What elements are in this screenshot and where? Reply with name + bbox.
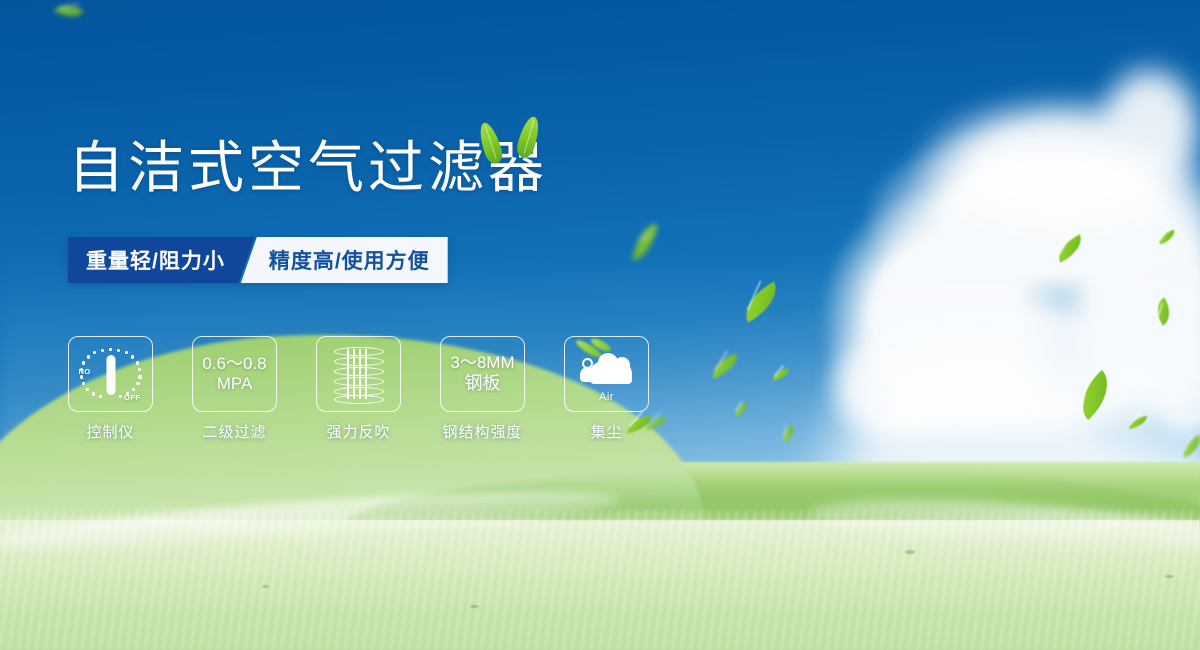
feature-icon-text-secondary: 钢板 [465,373,501,394]
feature-item-steel-strength[interactable]: 3～8MM 钢板 钢结构强度 [440,336,525,442]
product-banner: 自洁式空气过滤器 重量轻/阻力小 精度高/使用方便 [0,0,1200,650]
dust-ring [582,358,593,369]
grass-speck [1165,575,1174,578]
filter-stack-icon [331,345,387,403]
air-label: Air [576,391,638,403]
feature-icon-text-primary: 0.6～0.8 [202,354,266,374]
grass-speck [470,605,479,608]
cloud-small [580,367,596,382]
feature-icon-box: Air [564,336,649,412]
cloud-air-icon: Air [576,347,638,401]
feature-label: 集尘 [590,421,622,442]
subtitle-right-text: 精度高/使用方便 [241,237,448,283]
title-block: 自洁式空气过滤器 [68,140,548,196]
feature-icon-box: 0.6～0.8 MPA [192,336,277,412]
dial-no-label: NO [79,367,91,376]
feature-label: 二级过滤 [202,421,266,442]
feature-item-controller[interactable]: NO OFF 控制仪 [68,336,153,442]
subtitle-left-text: 重量轻/阻力小 [68,237,255,283]
feature-item-two-stage-filter[interactable]: 0.6～0.8 MPA 二级过滤 [192,336,277,442]
title-leaf-decoration [476,112,548,168]
feature-list: NO OFF 控制仪 0.6～0.8 MPA 二级过滤 [68,336,649,442]
feature-icon-box: 3～8MM 钢板 [440,336,525,412]
feature-icon-box [316,336,401,412]
dial-needle [106,355,115,395]
subtitle-bar: 重量轻/阻力小 精度高/使用方便 [68,237,448,283]
cloud-bump [614,357,630,373]
feature-item-strong-backblow[interactable]: 强力反吹 [316,336,401,442]
title-leaf-left [476,120,505,165]
grass-speck [905,550,915,554]
title-leaf-right [515,114,543,159]
dial-gauge-icon: NO OFF [79,344,143,404]
feature-label: 强力反吹 [326,421,390,442]
dial-off-label: OFF [124,393,141,402]
feature-icon-box: NO OFF [68,336,153,412]
feature-label: 钢结构强度 [442,421,522,442]
feature-icon-text-primary: 3～8MM [450,353,514,373]
grass-speck [262,585,269,588]
feature-label: 控制仪 [86,421,134,442]
feature-icon-text-secondary: MPA [217,374,253,394]
